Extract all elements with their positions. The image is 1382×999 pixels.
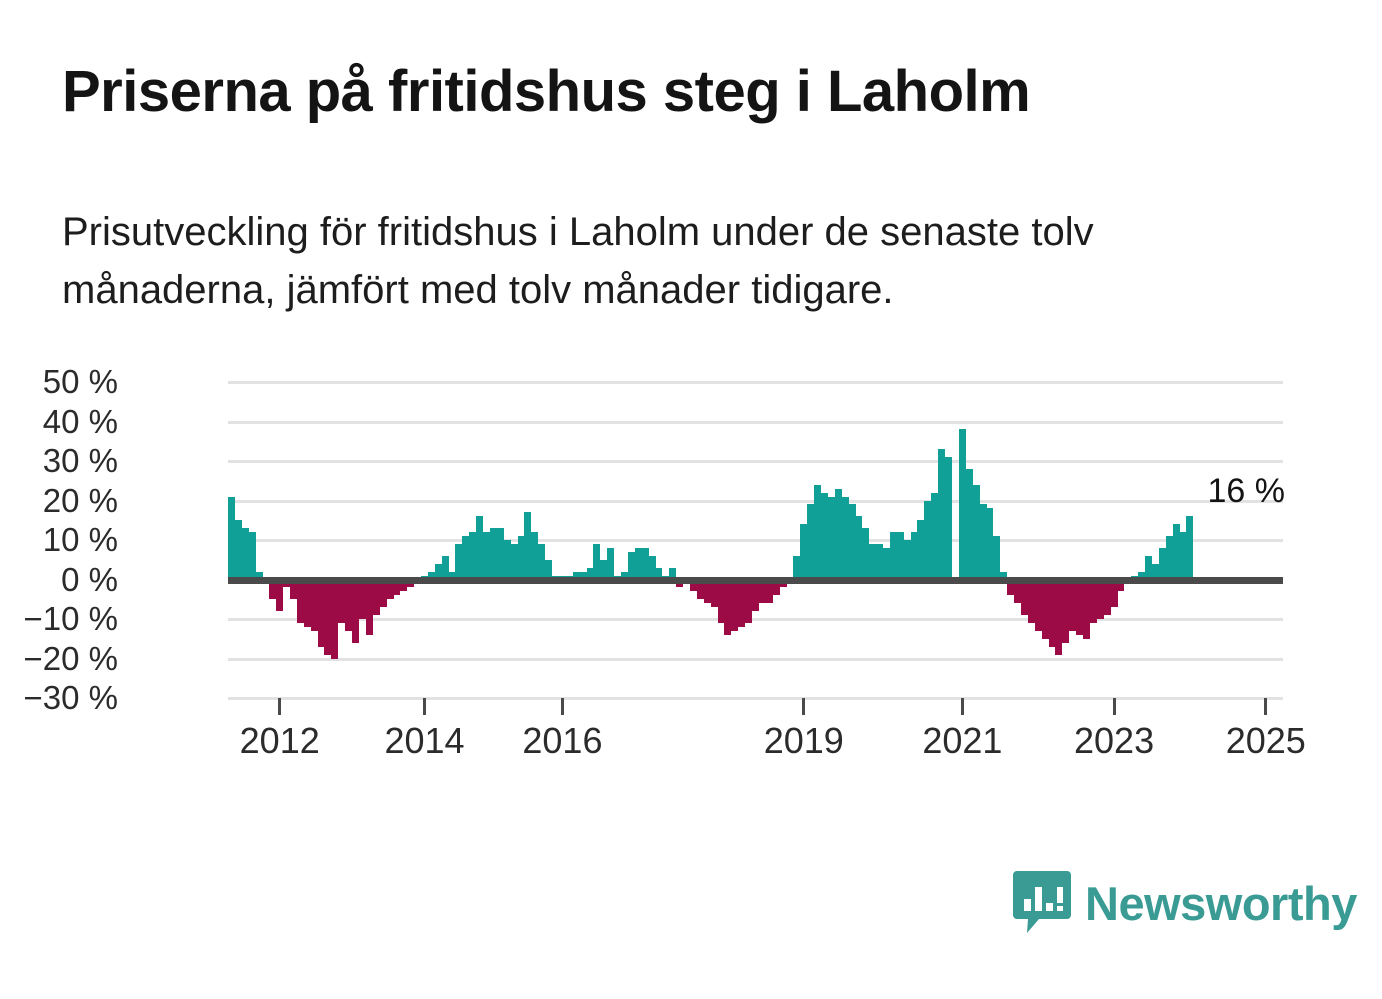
bar-chart: 50 %40 %30 %20 %10 %0 %−10 %−20 %−30 % 2… <box>0 0 1382 999</box>
x-tick-mark <box>423 698 426 715</box>
plot-area: 50 %40 %30 %20 %10 %0 %−10 %−20 %−30 % 2… <box>228 382 1283 698</box>
bar-chart-speech-bubble-icon <box>1013 871 1071 935</box>
y-tick-label: 40 % <box>0 403 118 441</box>
y-tick-label: 50 % <box>0 363 118 401</box>
bar <box>945 457 952 579</box>
y-tick-label: −20 % <box>0 640 118 678</box>
x-tick-mark <box>961 698 964 715</box>
x-tick-mark <box>802 698 805 715</box>
x-tick-label: 2014 <box>384 720 464 762</box>
newsworthy-logo[interactable]: Newsworthy <box>1013 871 1357 935</box>
bar <box>1186 516 1193 579</box>
zero-axis-line <box>228 577 1283 584</box>
x-tick-mark <box>561 698 564 715</box>
y-tick-label: 0 % <box>0 561 118 599</box>
y-tick-label: −10 % <box>0 600 118 638</box>
x-tick-mark <box>278 698 281 715</box>
x-tick-label: 2012 <box>240 720 320 762</box>
logo-wordmark: Newsworthy <box>1085 880 1357 927</box>
y-tick-label: 10 % <box>0 521 118 559</box>
x-tick-mark <box>1113 698 1116 715</box>
x-tick-label: 2019 <box>764 720 844 762</box>
x-tick-label: 2025 <box>1226 720 1306 762</box>
x-tick-mark <box>1264 698 1267 715</box>
bar-series <box>228 382 1283 698</box>
y-tick-label: 20 % <box>0 482 118 520</box>
x-tick-label: 2023 <box>1074 720 1154 762</box>
x-tick-label: 2021 <box>922 720 1002 762</box>
y-tick-label: 30 % <box>0 442 118 480</box>
x-tick-label: 2016 <box>522 720 602 762</box>
y-tick-label: −30 % <box>0 679 118 717</box>
